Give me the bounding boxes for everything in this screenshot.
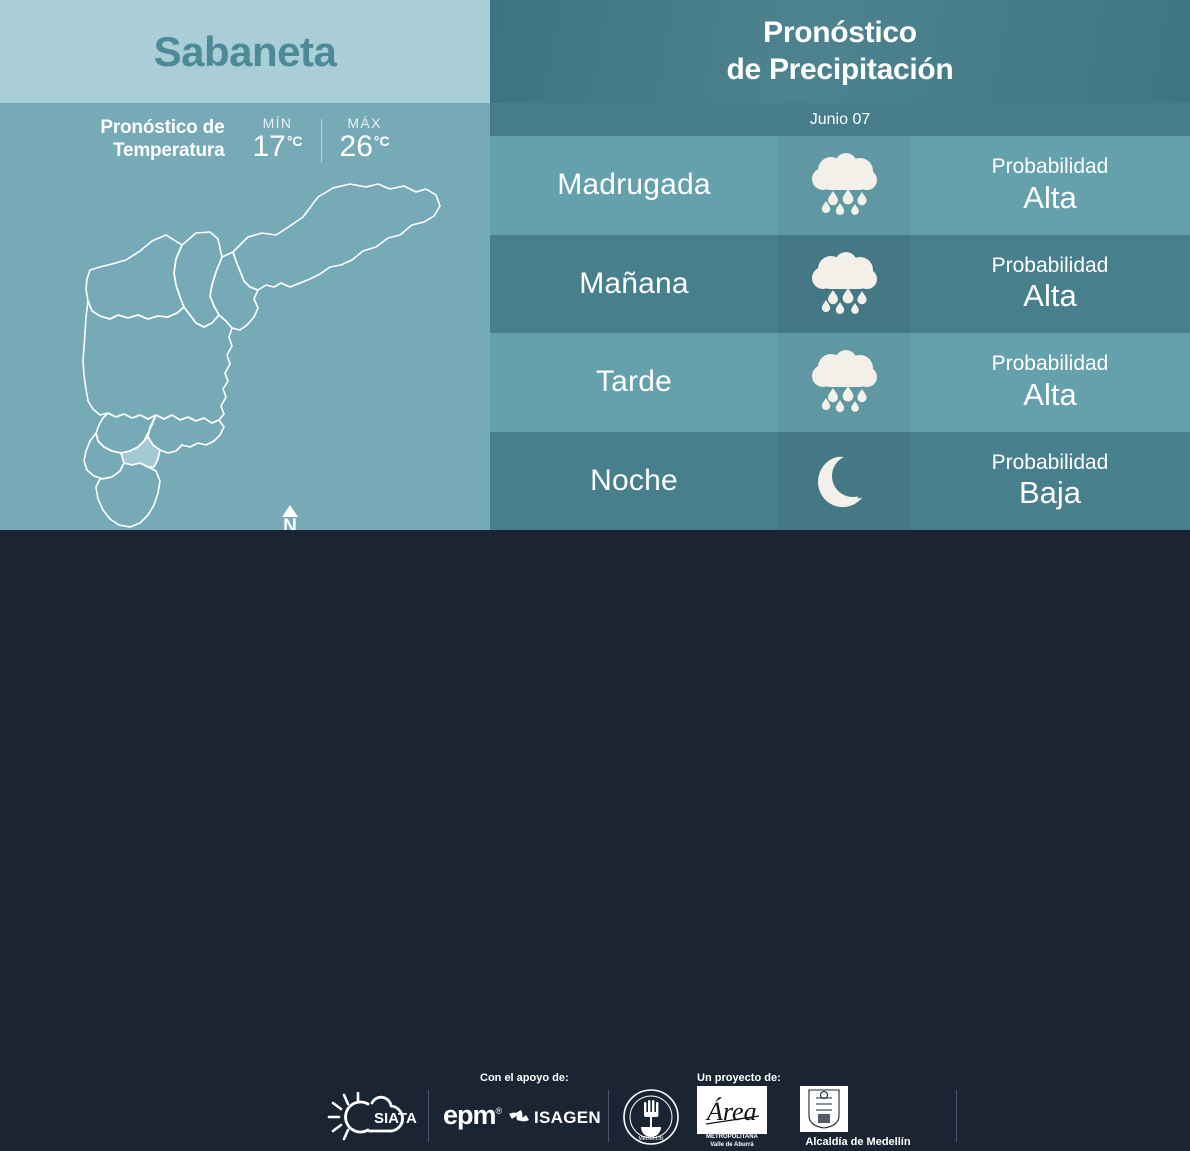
probability-label: Probabilidad — [992, 254, 1109, 278]
forecast-date: Junio 07 — [810, 111, 871, 129]
area-logo-box: Área — [697, 1086, 767, 1134]
temperature-max-value-group: 26°C — [340, 132, 390, 162]
epm-logo: epm® — [443, 1100, 501, 1131]
forecast-probability-cell: Probabilidad Alta — [910, 235, 1190, 334]
forecast-period-label: Tarde — [596, 365, 672, 399]
map-municipality-girardota — [210, 252, 258, 330]
temperature-forecast: Pronóstico de Temperatura MÍN 17°C MÁX 2… — [0, 103, 490, 175]
temperature-values: MÍN 17°C MÁX 26°C — [252, 115, 389, 163]
precipitation-header: Pronóstico de Precipitación — [490, 0, 1190, 103]
valle-de-aburra-map: N — [0, 175, 490, 530]
temperature-max: MÁX 26°C — [340, 115, 390, 162]
map-municipality-medellin — [83, 301, 232, 423]
left-panel: Sabaneta Pronóstico de Temperatura MÍN 1… — [0, 0, 490, 530]
epm-registered-mark: ® — [496, 1106, 502, 1116]
isagen-mark-icon — [508, 1109, 530, 1127]
probability-value: Alta — [1023, 377, 1076, 413]
crescent-moon-icon — [814, 448, 874, 514]
probability-value: Baja — [1019, 475, 1081, 511]
forecast-period-label: Noche — [590, 464, 678, 498]
footer-divider — [428, 1090, 429, 1142]
forecast-period-cell: Mañana — [490, 235, 778, 334]
temperature-max-value: 26 — [340, 132, 373, 162]
udea-seal-text: MEDELLIN — [638, 1136, 663, 1142]
map-svg — [0, 175, 490, 530]
precipitation-panel: Pronóstico de Precipitación Junio 07 Mad… — [490, 0, 1190, 530]
temperature-min-unit: °C — [287, 134, 303, 148]
map-municipality-sabaneta-highlighted — [121, 437, 160, 467]
project-caption: Un proyecto de: — [697, 1072, 781, 1084]
forecast-row-manana[interactable]: Mañana — [490, 235, 1190, 334]
siata-logo: SIATA — [327, 1092, 425, 1147]
map-municipality-caldas — [96, 463, 160, 527]
udea-logo: MEDELLIN — [622, 1088, 680, 1151]
area-metropolitana-caption: METROPOLITANA Valle de Aburrá — [697, 1134, 767, 1149]
probability-value: Alta — [1023, 278, 1076, 314]
area-metropolitana-logo: Área — [697, 1086, 767, 1134]
rain-cloud-icon — [805, 250, 883, 318]
forecast-rows: Madrugada — [490, 136, 1190, 530]
forecast-period-cell: Noche — [490, 432, 778, 531]
temperature-max-label: MÁX — [347, 115, 382, 131]
alcaldia-crest-icon — [800, 1086, 848, 1132]
temperature-heading-line2: Temperatura — [113, 140, 225, 161]
support-caption: Con el apoyo de: — [480, 1072, 569, 1084]
temperature-heading: Pronóstico de Temperatura — [100, 116, 224, 162]
forecast-period-label: Madrugada — [557, 168, 711, 202]
probability-label: Probabilidad — [992, 352, 1109, 376]
weather-forecast-card: Sabaneta Pronóstico de Temperatura MÍN 1… — [0, 0, 1190, 620]
precipitation-title: Pronóstico de Precipitación — [727, 15, 954, 88]
temperature-min-value: 17 — [252, 132, 285, 162]
temperature-max-unit: °C — [374, 134, 390, 148]
forecast-period-cell: Tarde — [490, 333, 778, 432]
rain-cloud-icon — [805, 151, 883, 219]
temperature-min: MÍN 17°C — [252, 115, 302, 162]
forecast-icon-cell — [778, 333, 910, 432]
isagen-logo-text: ISAGEN — [534, 1108, 601, 1128]
forecast-probability-cell: Probabilidad Baja — [910, 432, 1190, 531]
forecast-row-noche[interactable]: Noche Probabilidad Baja — [490, 432, 1190, 531]
temperature-heading-line1: Pronóstico de — [100, 117, 224, 138]
forecast-probability-cell: Probabilidad Alta — [910, 136, 1190, 235]
probability-label: Probabilidad — [992, 155, 1109, 179]
page-title: Sabaneta — [154, 28, 337, 76]
forecast-icon-cell — [778, 432, 910, 531]
forecast-probability-cell: Probabilidad Alta — [910, 333, 1190, 432]
probability-label: Probabilidad — [992, 451, 1109, 475]
isagen-logo: ISAGEN — [508, 1108, 601, 1128]
city-title-band: Sabaneta — [0, 0, 490, 103]
area-caption-line2: Valle de Aburrá — [710, 1142, 753, 1148]
forecast-icon-cell — [778, 136, 910, 235]
temperature-min-value-group: 17°C — [252, 132, 302, 162]
forecast-row-tarde[interactable]: Tarde — [490, 333, 1190, 432]
rain-cloud-icon — [805, 348, 883, 416]
forecast-period-cell: Madrugada — [490, 136, 778, 235]
forecast-period-label: Mañana — [579, 267, 689, 301]
probability-value: Alta — [1023, 180, 1076, 216]
area-caption-line1: METROPOLITANA — [706, 1134, 758, 1140]
forecast-date-band: Junio 07 — [490, 103, 1190, 136]
forecast-icon-cell — [778, 235, 910, 334]
map-municipality-barbosa — [233, 184, 440, 290]
precipitation-title-line2: de Precipitación — [727, 53, 954, 86]
alcaldia-logo — [800, 1086, 848, 1132]
footer-divider — [956, 1090, 957, 1142]
siata-logo-text: SIATA — [374, 1110, 417, 1127]
temperature-min-label: MÍN — [263, 115, 293, 131]
alcaldia-label: Alcaldía de Medellín — [768, 1136, 948, 1148]
map-municipality-bello — [86, 235, 184, 319]
forecast-row-madrugada[interactable]: Madrugada — [490, 136, 1190, 235]
area-logo-script: Área — [705, 1097, 757, 1126]
footer-logos-bar: Con el apoyo de: Un proyecto de: SIATA — [0, 530, 1190, 620]
epm-logo-text: epm — [443, 1100, 496, 1130]
temperature-divider — [321, 119, 322, 163]
precipitation-title-line1: Pronóstico — [763, 16, 917, 49]
map-municipality-envigado — [148, 415, 224, 453]
footer-divider — [608, 1090, 609, 1142]
